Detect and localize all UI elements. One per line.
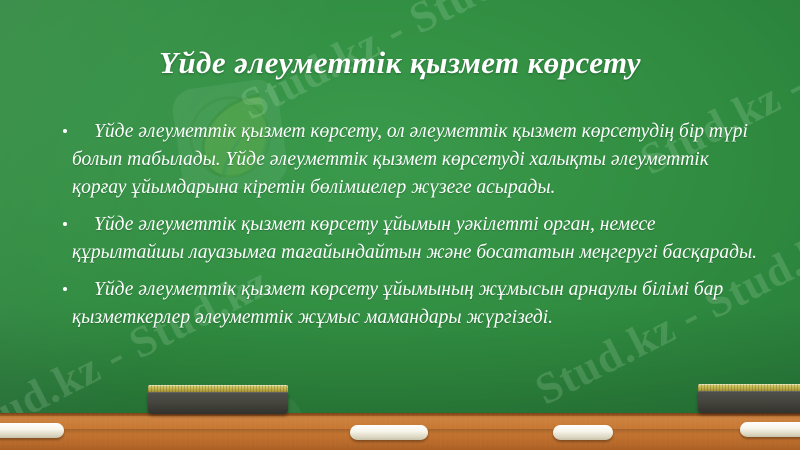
presentation-slide: Stud.kz - Stud.kz Stud.kz - Stud.kz Stud… — [0, 0, 800, 450]
eraser-body — [148, 392, 288, 414]
eraser-felt — [698, 384, 800, 391]
bullet-item: Үйде әлеуметтік қызмет көрсету ұйымының … — [46, 276, 762, 332]
bullet-marker-icon — [63, 222, 67, 226]
bullet-marker-icon — [63, 287, 67, 291]
bullet-text: Үйде әлеуметтік қызмет көрсету ұйымының … — [72, 279, 723, 328]
eraser-felt — [148, 385, 288, 392]
chalk-stick — [0, 423, 64, 438]
bullet-item: Үйде әлеуметтік қызмет көрсету ұйымын уә… — [46, 211, 762, 267]
eraser-body — [698, 391, 800, 413]
chalkboard-eraser-right — [698, 384, 800, 413]
chalk-stick — [350, 425, 428, 440]
chalk-stick — [553, 425, 613, 440]
bullet-text: Үйде әлеуметтік қызмет көрсету, ол әлеум… — [72, 121, 748, 198]
slide-body: Үйде әлеуметтік қызмет көрсету, ол әлеум… — [46, 118, 762, 341]
bullet-marker-icon — [63, 129, 67, 133]
bullet-item: Үйде әлеуметтік қызмет көрсету, ол әлеум… — [46, 118, 762, 202]
chalk-stick — [740, 422, 800, 437]
chalkboard-eraser-left — [148, 385, 288, 414]
slide-title: Үйде әлеуметтік қызмет көрсету — [0, 44, 800, 82]
bullet-text: Үйде әлеуметтік қызмет көрсету ұйымын уә… — [72, 214, 757, 263]
